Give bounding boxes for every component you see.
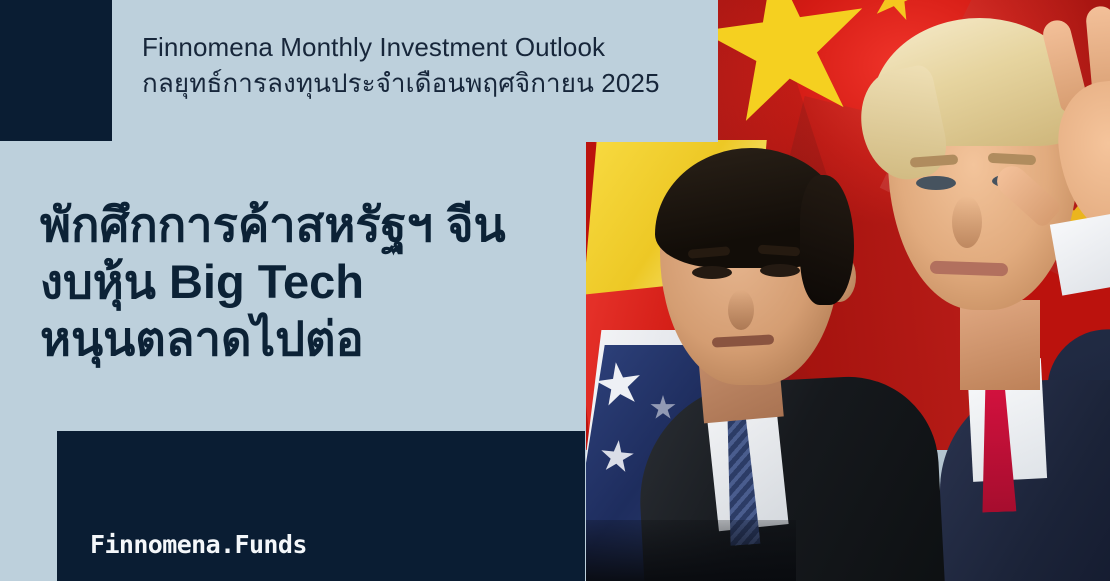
- headline: พักศึกการค้าสหรัฐฯ จีน งบหุ้น Big Tech ห…: [40, 196, 580, 367]
- trump-mouth: [930, 261, 1008, 277]
- headline-line-3: หนุนตลาดไปต่อ: [40, 310, 580, 367]
- headline-line-1: พักศึกการค้าสหรัฐฯ จีน: [40, 196, 580, 253]
- finnomena-funds-logo: Finnomena.Funds: [90, 530, 307, 559]
- xi-nose: [728, 290, 754, 330]
- title-block: Finnomena Monthly Investment Outlook กลย…: [142, 30, 722, 102]
- xi-eye: [692, 266, 732, 279]
- headline-line-2: งบหุ้น Big Tech: [40, 253, 580, 310]
- trump-eye: [916, 176, 956, 190]
- corner-accent-block: [0, 0, 112, 141]
- trump-nose: [952, 196, 982, 248]
- title-thai: กลยุทธ์การลงทุนประจำเดือนพฤศจิกายน 2025: [142, 64, 722, 102]
- photo-shadow: [586, 520, 796, 581]
- trump-neck: [960, 300, 1040, 390]
- title-english: Finnomena Monthly Investment Outlook: [142, 30, 722, 64]
- xi-eye: [760, 264, 800, 277]
- poster-canvas: Finnomena Monthly Investment Outlook กลย…: [0, 0, 1110, 581]
